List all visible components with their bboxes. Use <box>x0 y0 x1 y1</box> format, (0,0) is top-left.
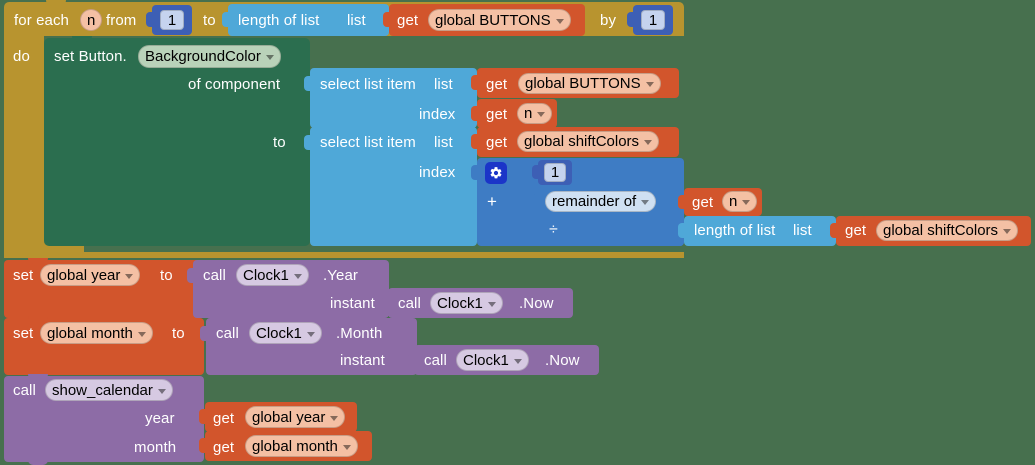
call-clock1-year-component-field[interactable]: Clock1 <box>236 264 309 286</box>
get-label-3: get <box>486 107 507 122</box>
select-list-item-1-plug <box>304 76 312 91</box>
of-component-label: of component <box>188 77 280 92</box>
get-global-shiftcolors-block-2-plug <box>830 223 838 238</box>
call-clock1-now-component-text-2: Clock1 <box>463 353 509 368</box>
set-button-property-text: BackgroundColor <box>145 49 261 64</box>
call-clock1-now-block-1-plug <box>382 295 390 310</box>
set-button-prefix-label: set Button. <box>54 49 127 64</box>
show-calendar-param-month-label: month <box>134 440 176 455</box>
set-button-backgroundcolor-block[interactable] <box>44 38 310 246</box>
call-clock1-month-instant-label: instant <box>340 353 385 368</box>
get-global-shiftcolors-field-1[interactable]: global shiftColors <box>517 131 659 152</box>
call-clock1-year-instant-label: instant <box>330 296 375 311</box>
call-label-1: call <box>203 268 226 283</box>
mutator-gear-button[interactable] <box>485 162 507 184</box>
select-list-item-2-index-socket: index <box>419 165 455 180</box>
call-clock1-month-component-field[interactable]: Clock1 <box>249 322 322 344</box>
length-of-list-2-socket-label: list <box>793 223 812 238</box>
remainder-of-dropdown-field[interactable]: remainder of <box>545 191 656 212</box>
get-n-block-2-plug <box>678 195 686 209</box>
get-global-shiftcolors-text-2: global shiftColors <box>883 223 998 238</box>
select-list-item-2-list-socket: list <box>434 135 453 150</box>
get-n-text-1: n <box>524 106 532 121</box>
call-clock1-year-plug <box>187 268 195 283</box>
for-each-loop-variable-text: n <box>87 13 95 28</box>
for-each-to-label: to <box>203 13 216 28</box>
math-add-operator-label: + <box>487 194 497 209</box>
get-n-block-1-plug <box>471 106 479 121</box>
call-clock1-month-plug <box>200 326 208 341</box>
chevron-down-icon <box>644 140 652 145</box>
chevron-down-icon <box>646 82 654 87</box>
get-global-year-plug <box>199 409 207 424</box>
get-global-month-field[interactable]: global month <box>245 435 358 457</box>
for-each-from-number-field[interactable]: 1 <box>160 10 184 30</box>
remainder-of-block-plug <box>532 194 540 209</box>
call-label-5: call <box>13 383 36 398</box>
call-clock1-month-method-label: .Month <box>336 326 382 341</box>
for-each-by-label: by <box>600 13 616 28</box>
get-n-field-1[interactable]: n <box>517 103 552 124</box>
get-label-2: get <box>486 77 507 92</box>
call-clock1-year-component-text: Clock1 <box>243 268 289 283</box>
chevron-down-icon <box>514 359 522 364</box>
select-list-item-1-label: select list item <box>320 77 416 92</box>
call-clock1-now-component-field-2[interactable]: Clock1 <box>456 349 529 371</box>
chevron-down-icon <box>537 112 545 117</box>
set-button-property-field[interactable]: BackgroundColor <box>138 45 281 68</box>
chevron-down-icon <box>307 332 315 337</box>
get-label-6: get <box>845 223 866 238</box>
call-clock1-now-component-text-1: Clock1 <box>437 296 483 311</box>
length-of-list-1-socket-label: list <box>347 13 366 28</box>
get-global-buttons-field-2[interactable]: global BUTTONS <box>518 73 661 94</box>
set-button-to-label: to <box>273 135 286 150</box>
length-of-list-block-1-plug <box>222 12 230 27</box>
set-global-month-variable-field[interactable]: global month <box>40 322 153 344</box>
get-global-month-text: global month <box>252 439 338 454</box>
for-each-do-label: do <box>13 49 30 64</box>
chevron-down-icon <box>641 200 649 205</box>
set-global-month-variable-text: global month <box>47 326 133 341</box>
call-label-4: call <box>424 353 447 368</box>
call-show-calendar-procedure-field[interactable]: show_calendar <box>45 379 173 401</box>
get-global-buttons-text-2: global BUTTONS <box>525 76 641 91</box>
chevron-down-icon <box>330 416 338 421</box>
chevron-down-icon <box>488 302 496 307</box>
get-n-field-2[interactable]: n <box>722 191 757 212</box>
show-calendar-param-year-label: year <box>145 411 175 426</box>
get-label-4: get <box>486 135 507 150</box>
call-clock1-now-method-label-1: .Now <box>519 296 554 311</box>
for-each-from-label: from <box>106 13 136 28</box>
for-each-by-number-plug <box>627 12 635 27</box>
for-each-top-notch <box>46 0 66 6</box>
gear-icon <box>489 166 503 180</box>
select-list-item-1-list-socket: list <box>434 77 453 92</box>
set-global-year-variable-field[interactable]: global year <box>40 264 140 286</box>
get-global-year-field[interactable]: global year <box>245 406 345 428</box>
call-clock1-month-component-text: Clock1 <box>256 326 302 341</box>
set-global-year-to-label: to <box>160 268 173 283</box>
call-clock1-year-method-label: .Year <box>323 268 358 283</box>
get-global-shiftcolors-field-2[interactable]: global shiftColors <box>876 220 1018 241</box>
remainder-divide-symbol: ÷ <box>549 222 558 237</box>
call-clock1-now-component-field-1[interactable]: Clock1 <box>430 292 503 314</box>
math-operand-1-plug <box>532 165 540 179</box>
call-clock1-now-block-2-plug <box>408 352 416 367</box>
call-clock1-now-method-label-2: .Now <box>545 353 580 368</box>
get-global-buttons-block-1-plug <box>383 12 391 27</box>
chevron-down-icon <box>125 274 133 279</box>
call-show-calendar-bottom-notch <box>28 460 48 465</box>
chevron-down-icon <box>294 274 302 279</box>
set-global-month-set-label: set <box>13 326 33 341</box>
for-each-prefix-label: for each <box>14 13 69 28</box>
get-global-buttons-field-1[interactable]: global BUTTONS <box>428 9 571 31</box>
for-each-by-number-text: 1 <box>649 13 657 28</box>
get-global-year-text: global year <box>252 410 325 425</box>
chevron-down-icon <box>138 332 146 337</box>
chevron-down-icon <box>158 389 166 394</box>
chevron-down-icon <box>556 19 564 24</box>
chevron-down-icon <box>266 55 274 60</box>
math-add-block-plug <box>471 165 479 180</box>
math-operand-1-text: 1 <box>551 165 559 180</box>
set-global-year-variable-text: global year <box>47 268 120 283</box>
remainder-of-text: remainder of <box>552 194 636 209</box>
chevron-down-icon <box>1003 229 1011 234</box>
chevron-down-icon <box>343 445 351 450</box>
select-list-item-1-index-socket: index <box>419 107 455 122</box>
blocks-canvas[interactable]: for each n from 1 to length of list list… <box>0 0 1035 465</box>
for-each-from-number-plug <box>146 12 154 27</box>
select-list-item-2-plug <box>304 135 312 150</box>
set-global-month-top-notch <box>28 316 48 322</box>
call-label-3: call <box>216 326 239 341</box>
for-each-by-number-field[interactable]: 1 <box>641 10 665 30</box>
set-global-month-to-label: to <box>172 326 185 341</box>
math-operand-1-field[interactable]: 1 <box>544 163 566 182</box>
length-of-list-2-label: length of list <box>694 223 775 238</box>
set-button-top-notch <box>72 36 92 42</box>
chevron-down-icon <box>742 200 750 205</box>
get-label-7: get <box>213 411 234 426</box>
get-global-shiftcolors-block-1-plug <box>471 134 479 149</box>
length-of-list-block-2-plug <box>678 223 686 238</box>
get-label-1: get <box>397 13 418 28</box>
select-list-item-2-label: select list item <box>320 135 416 150</box>
length-of-list-1-label: length of list <box>238 13 319 28</box>
get-global-shiftcolors-text-1: global shiftColors <box>524 134 639 149</box>
set-global-year-set-label: set <box>13 268 33 283</box>
get-label-8: get <box>213 440 234 455</box>
get-global-buttons-block-2-plug <box>471 75 479 90</box>
call-show-calendar-procedure-text: show_calendar <box>52 383 153 398</box>
get-global-buttons-text-1: global BUTTONS <box>435 13 551 28</box>
get-global-month-plug <box>199 438 207 453</box>
get-label-5: get <box>692 195 713 210</box>
set-global-year-top-notch <box>28 258 48 264</box>
get-n-text-2: n <box>729 194 737 209</box>
call-show-calendar-top-notch <box>28 374 48 380</box>
for-each-from-number-text: 1 <box>168 13 176 28</box>
call-label-2: call <box>398 296 421 311</box>
